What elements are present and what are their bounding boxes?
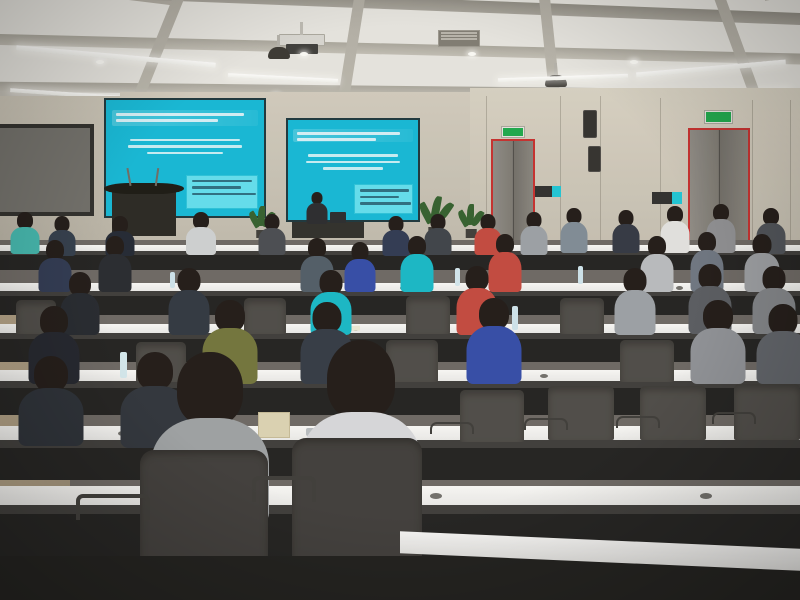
audience-person — [520, 212, 548, 254]
chair-armrest — [712, 412, 756, 424]
chair — [640, 386, 706, 440]
slide-info-box-2 — [354, 184, 413, 214]
audience-person — [560, 208, 588, 252]
chair-armrest — [616, 416, 660, 428]
water-bottle — [578, 266, 583, 284]
presenter-laptop — [330, 212, 346, 223]
slide-body-2 — [306, 150, 400, 174]
audience-person — [98, 236, 132, 290]
ceiling-vent — [438, 30, 480, 47]
audience-person — [466, 298, 522, 382]
podium-top — [104, 183, 184, 194]
slide-title-banner-1 — [112, 110, 257, 125]
exit-sign-right — [704, 110, 733, 124]
wall-speaker-upper — [583, 110, 597, 138]
audience-person — [186, 212, 216, 254]
audience-person — [614, 268, 656, 332]
audience-person — [756, 304, 800, 382]
whiteboard-left — [0, 124, 94, 216]
seated-presenter — [306, 192, 328, 224]
wall-sign-left — [535, 186, 561, 197]
chair — [460, 390, 524, 442]
chair — [620, 340, 674, 382]
ceiling-projector — [279, 34, 325, 46]
audience-person — [258, 214, 286, 254]
wall-sign-right — [652, 192, 682, 204]
chair-armrest-foreground — [252, 476, 316, 502]
chair-armrest-foreground — [76, 494, 150, 520]
exit-sign-left — [501, 126, 525, 138]
slide-info-box-1 — [186, 175, 258, 209]
slide-title-banner-2 — [293, 129, 413, 142]
chair-armrest — [524, 418, 568, 430]
chair — [406, 296, 450, 334]
slide-body-1 — [128, 135, 242, 159]
presenter-table — [292, 222, 364, 238]
chair-armrest — [430, 422, 474, 434]
audience-person — [18, 356, 84, 444]
audience-person — [10, 212, 40, 252]
dome-speaker-left — [268, 47, 290, 59]
audience-person — [612, 210, 640, 252]
audience-person — [400, 236, 434, 290]
lecture-hall-photo — [0, 0, 800, 600]
audience-person — [690, 300, 746, 382]
chair — [560, 298, 604, 334]
chair — [548, 386, 614, 440]
wall-speaker-lower — [588, 146, 601, 172]
